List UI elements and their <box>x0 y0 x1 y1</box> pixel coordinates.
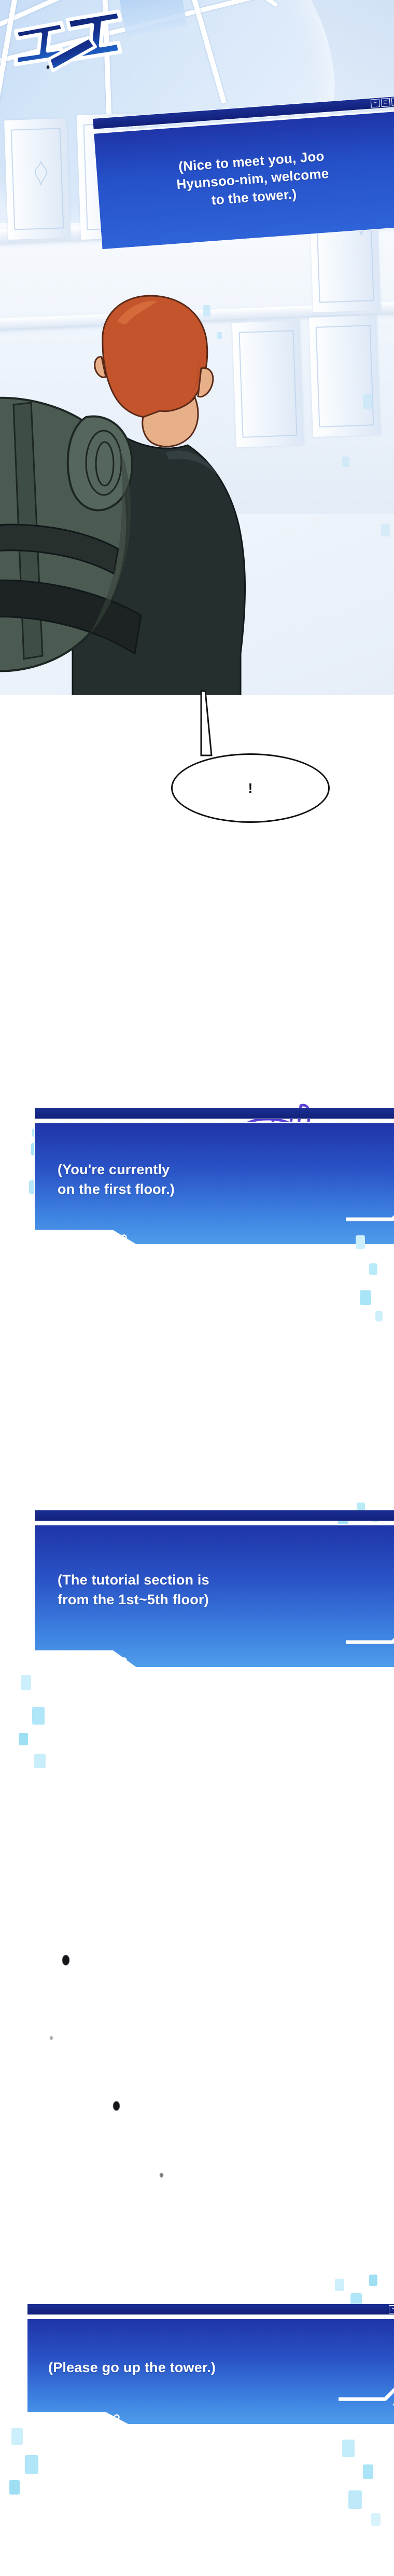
ear <box>198 368 213 396</box>
panel-system-tutorial: − □ ✕ (The tutorial section is from the … <box>0 1510 394 1668</box>
pixel-decor <box>360 1290 371 1305</box>
pixel-decor <box>348 2490 362 2509</box>
pixel-decor <box>34 1754 46 1768</box>
panel-reaction: ! <box>0 695 394 1017</box>
pixel-decor <box>363 394 373 409</box>
window-body: (The tutorial section is from the 1st~5t… <box>34 1525 394 1668</box>
system-dialog-tutorial[interactable]: − □ ✕ (The tutorial section is from the … <box>34 1510 394 1668</box>
system-dialog-go-up[interactable]: − □ ✕ (Please go up the tower.) <box>27 2304 394 2425</box>
window-body: (Please go up the tower.) <box>27 2319 394 2425</box>
window-body: (Nice to meet you, Joo Hyunsoo-nim, welc… <box>93 111 394 250</box>
window-rule <box>34 1524 394 1525</box>
ink-speck <box>47 65 49 69</box>
window-titlebar: − □ ✕ <box>27 2304 394 2315</box>
webtoon-page: − □ ✕ (Nice to meet you, Joo Hyunsoo-nim… <box>0 0 394 2576</box>
system-dialog-welcome[interactable]: − □ ✕ (Nice to meet you, Joo Hyunsoo-nim… <box>92 95 394 250</box>
hud-corner-decor <box>335 2377 394 2406</box>
panel-system-go-up: − □ ✕ (Please go up the tower.) <box>0 2304 394 2425</box>
pixel-decor <box>335 2279 344 2291</box>
pixel-decor <box>25 2455 38 2474</box>
ink-speck <box>113 2101 120 2111</box>
window-rule <box>34 1122 394 1123</box>
ink-speck <box>62 1955 69 1965</box>
ink-speck <box>160 2173 163 2178</box>
pixel-decor <box>375 1311 383 1321</box>
hud-bar-decor <box>37 2414 125 2421</box>
window-titlebar: − □ ✕ <box>34 1510 394 1521</box>
window-rule <box>27 2318 394 2319</box>
panel-tower-entrance: − □ ✕ (Nice to meet you, Joo Hyunsoo-nim… <box>0 0 394 695</box>
pixel-decor <box>369 1263 377 1275</box>
pixel-decor <box>369 2275 377 2286</box>
character-joo-hyunsoo <box>0 291 264 695</box>
maximize-button[interactable]: □ <box>381 98 390 107</box>
hud-corner-decor <box>343 1620 394 1649</box>
pixel-decor <box>371 2513 381 2526</box>
fleur-de-lis-ornament <box>32 161 50 186</box>
pixel-decor <box>32 1707 45 1725</box>
pixel-decor <box>363 2464 373 2479</box>
pixel-decor <box>19 1733 28 1745</box>
hud-corner-decor <box>343 1197 394 1227</box>
pixel-decor <box>342 457 349 467</box>
minimize-button[interactable]: − <box>371 99 380 107</box>
system-line: (Please go up the tower.) <box>48 2358 394 2377</box>
speech-bubble-text: ! <box>248 781 253 795</box>
pixel-decor <box>381 524 390 536</box>
close-button[interactable]: ✕ <box>391 97 394 106</box>
pixel-decor <box>11 2428 23 2445</box>
panel-system-first-floor: − □ ✕ (You're currently on the first flo… <box>0 1108 394 1245</box>
hair <box>103 296 207 418</box>
minimize-button[interactable]: − <box>389 2305 394 2313</box>
pixel-decor <box>342 2440 355 2457</box>
pixel-decor <box>9 2480 20 2495</box>
system-dialog-first-floor[interactable]: − □ ✕ (You're currently on the first flo… <box>34 1108 394 1245</box>
ink-speck <box>50 2036 53 2040</box>
system-line: on the first floor.) <box>58 1179 394 1199</box>
speech-bubble: ! <box>171 753 330 823</box>
system-line: from the 1st~5th floor) <box>58 1590 394 1609</box>
system-line: (You're currently <box>58 1160 394 1179</box>
pixel-decor <box>356 1235 365 1249</box>
pixel-decor <box>21 1675 31 1690</box>
hud-bar-decor <box>44 1234 132 1241</box>
window-titlebar: − □ ✕ <box>34 1108 394 1119</box>
ink-speck <box>23 34 26 39</box>
window-body: (You're currently on the first floor.) <box>34 1123 394 1245</box>
hud-bar-decor <box>44 1657 132 1664</box>
system-line: (The tutorial section is <box>58 1570 394 1590</box>
